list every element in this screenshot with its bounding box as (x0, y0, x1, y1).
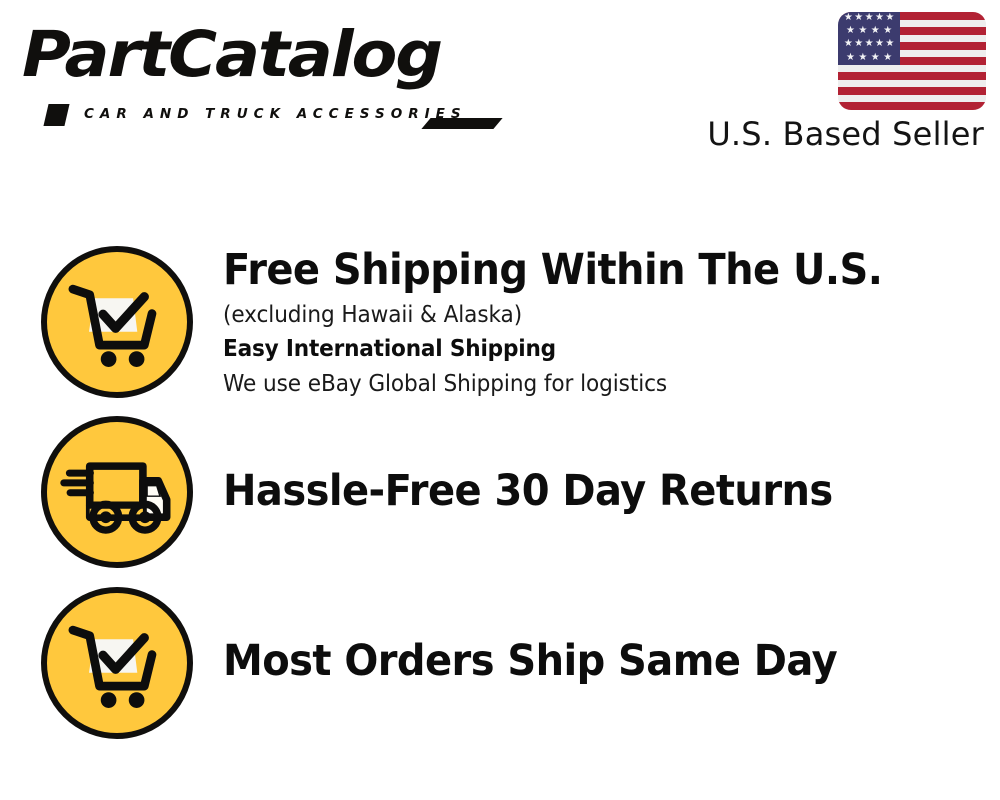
feature-text-block: Free Shipping Within The U.S. (excluding… (223, 244, 983, 401)
flag-star: ★ (858, 53, 868, 63)
seller-badge-label: U.S. Based Seller (707, 114, 984, 154)
flag-star: ★ (870, 26, 880, 36)
flag-star: ★ (874, 13, 884, 23)
feature-text-block: Most Orders Ship Same Day (223, 635, 983, 687)
banner-header: PartCatalog CAR AND TRUCK ACCESSORIES ★★… (0, 0, 1000, 175)
flag-star: ★ (885, 39, 895, 49)
feature-subtext: (excluding Hawaii & Alaska) (223, 298, 937, 332)
brand-logo[interactable]: PartCatalog CAR AND TRUCK ACCESSORIES (22, 18, 492, 118)
logo-p-descender-shape (43, 104, 69, 126)
flag-canton: ★★★★★★★★★★★★★★★★★★ (838, 12, 900, 65)
flag-star: ★ (858, 26, 868, 36)
feature-row: Free Shipping Within The U.S. (excluding… (0, 240, 1000, 398)
flag-star: ★ (845, 26, 855, 36)
feature-headline: Hassle-Free 30 Day Returns (223, 465, 930, 517)
flag-star: ★ (874, 39, 884, 49)
flag-star: ★ (845, 53, 855, 63)
brand-tagline: CAR AND TRUCK ACCESSORIES (84, 106, 467, 122)
shopping-cart-check-icon (41, 587, 193, 739)
flag-star: ★ (870, 53, 880, 63)
flag-star: ★ (843, 13, 853, 23)
flag-star: ★ (883, 26, 893, 36)
delivery-truck-icon (41, 416, 193, 568)
flag-star: ★ (864, 39, 874, 49)
feature-row: Hassle-Free 30 Day Returns (0, 410, 1000, 568)
us-flag-icon: ★★★★★★★★★★★★★★★★★★ (838, 12, 986, 110)
brand-wordmark: PartCatalog (22, 18, 441, 92)
flag-star: ★ (854, 13, 864, 23)
flag-stripe (838, 102, 986, 110)
flag-star: ★ (864, 13, 874, 23)
feature-subtext-strong: Easy International Shipping (223, 332, 937, 367)
feature-row: Most Orders Ship Same Day (0, 581, 1000, 739)
flag-star: ★ (843, 39, 853, 49)
shopping-cart-check-icon (41, 246, 193, 398)
flag-star: ★ (883, 53, 893, 63)
feature-text-block: Hassle-Free 30 Day Returns (223, 465, 983, 517)
feature-subtext: We use eBay Global Shipping for logistic… (223, 367, 937, 401)
feature-headline: Free Shipping Within The U.S. (223, 244, 930, 296)
feature-headline: Most Orders Ship Same Day (223, 635, 930, 687)
flag-star: ★ (854, 39, 864, 49)
flag-star: ★ (885, 13, 895, 23)
